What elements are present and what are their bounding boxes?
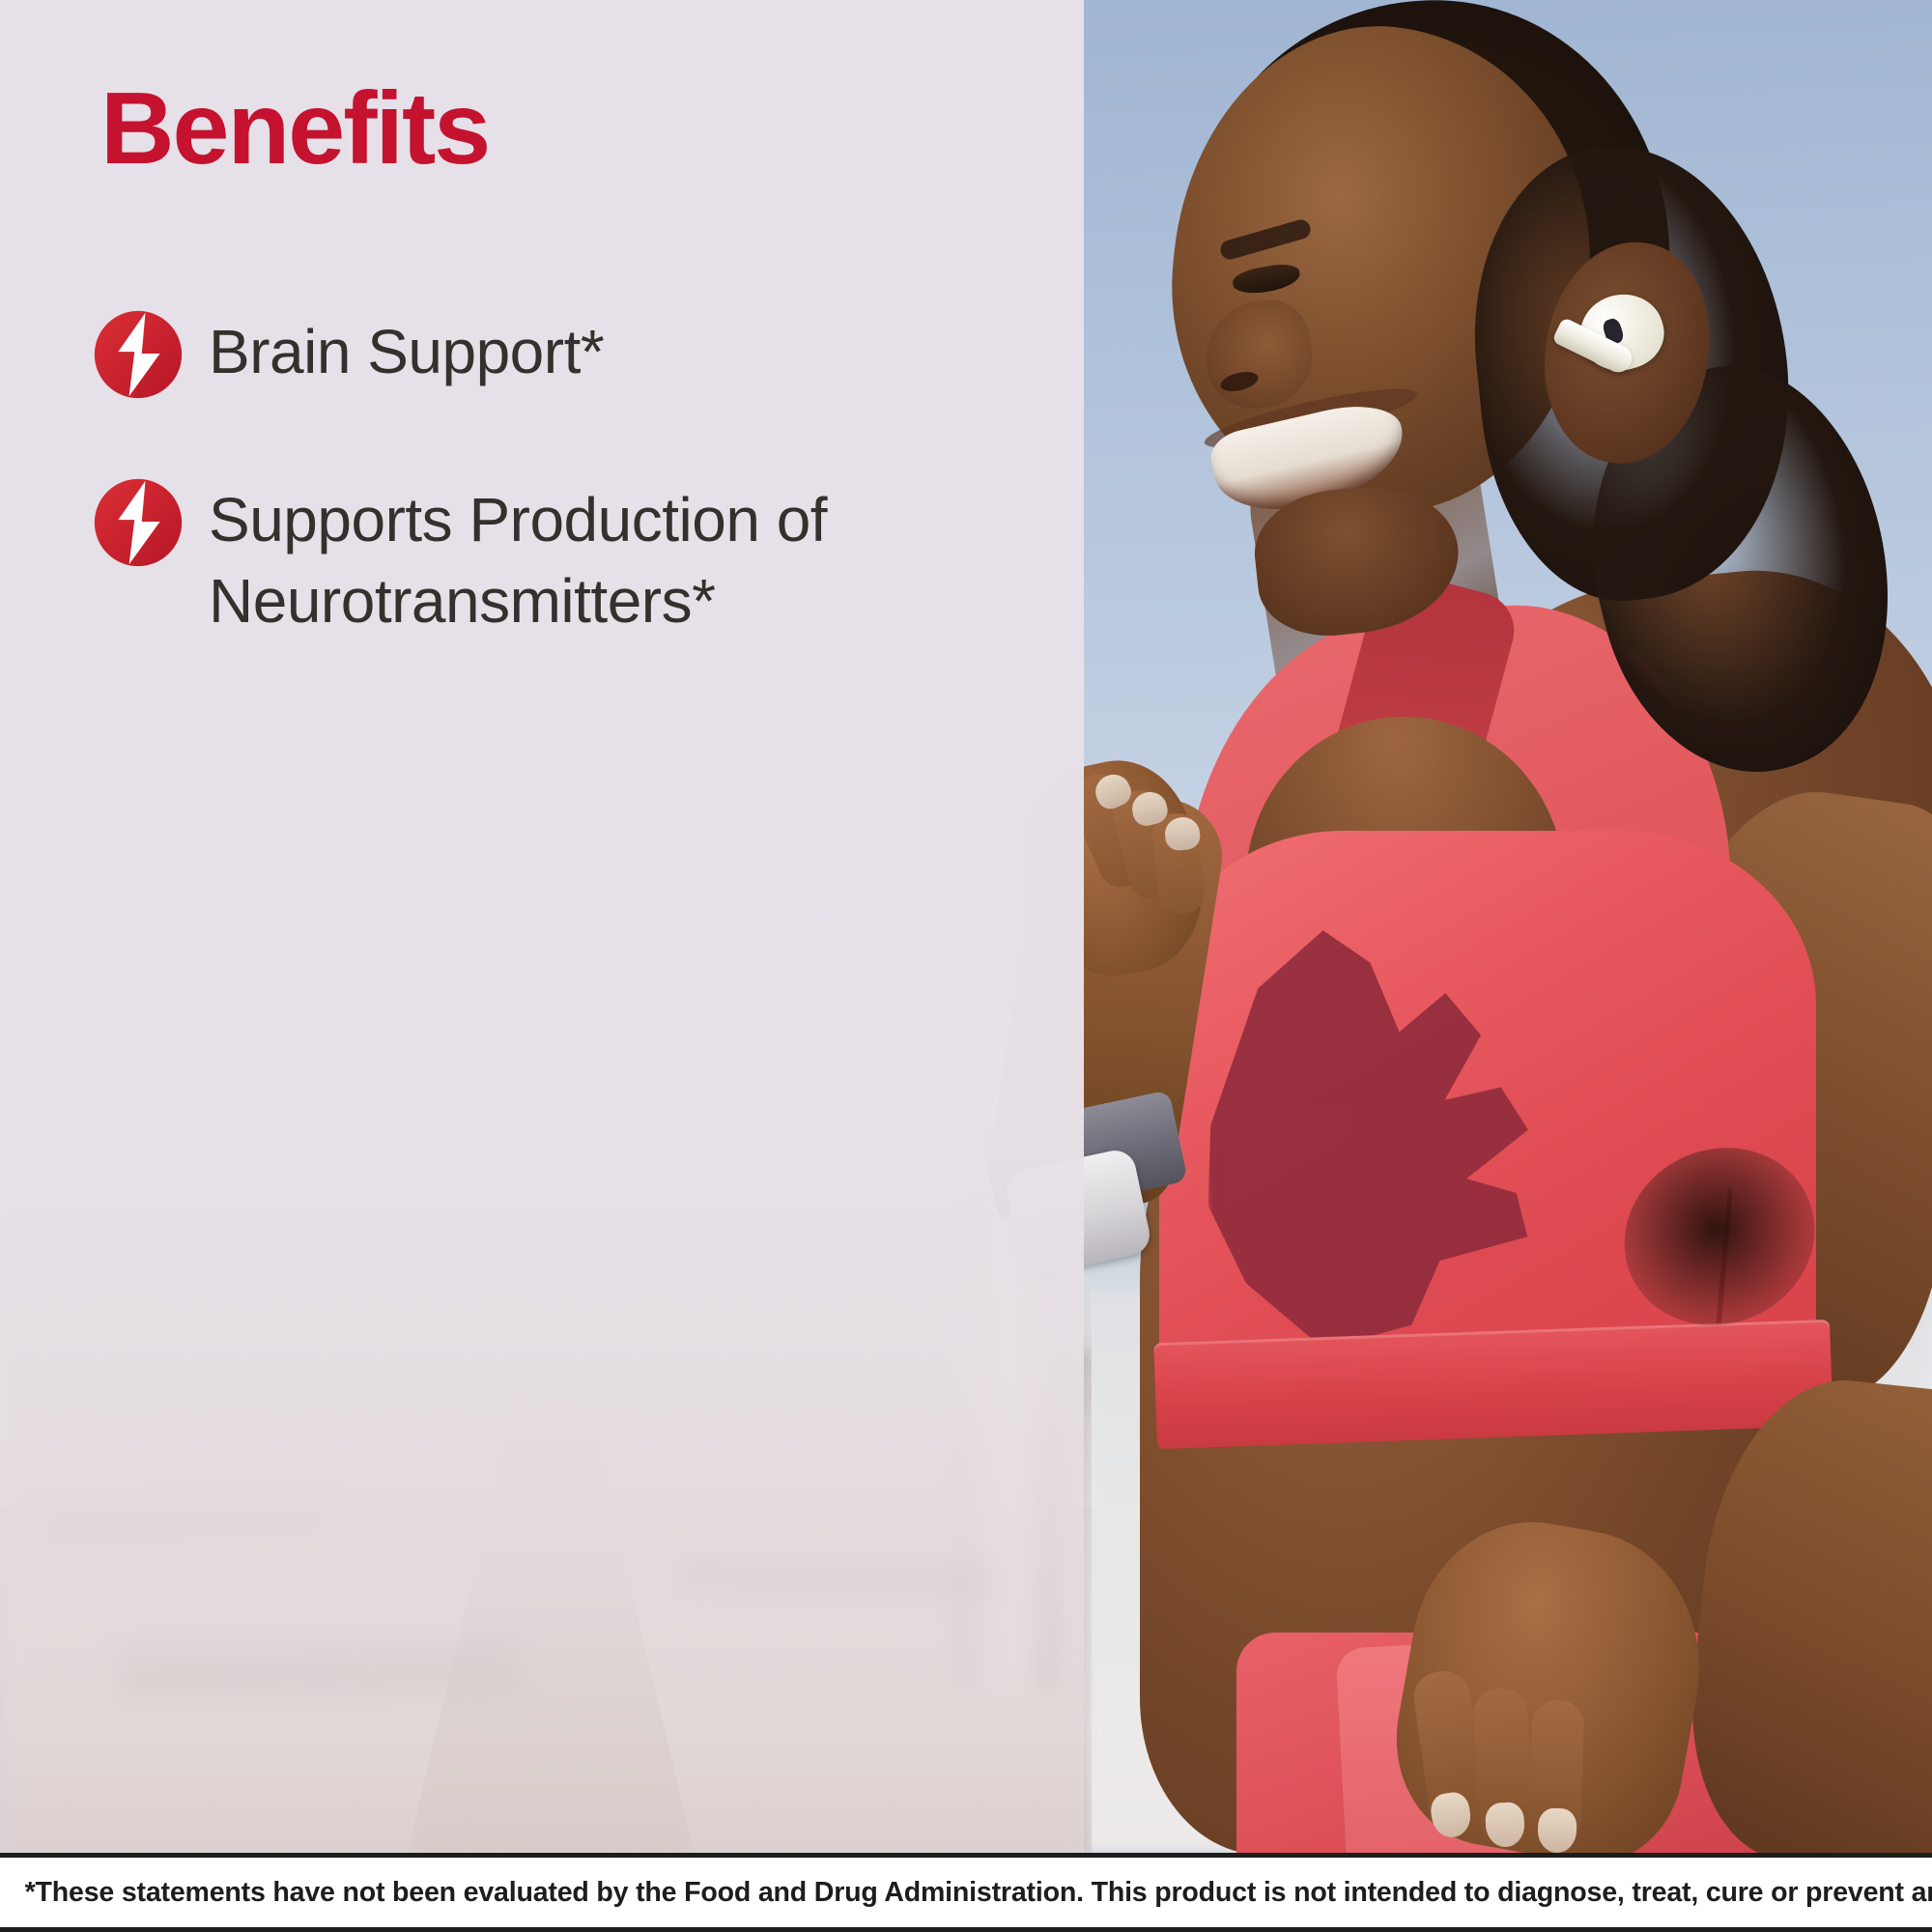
benefits-content-panel: Benefits [0, 0, 1084, 1853]
benefit-label: Brain Support* [209, 307, 604, 392]
benefit-label: Supports Production of Neurotransmitters… [209, 475, 943, 642]
list-item: Supports Production of Neurotransmitters… [93, 475, 1039, 642]
disclaimer-bar: *These statements have not been evaluate… [0, 1853, 1932, 1932]
page-title: Benefits [100, 75, 489, 183]
lightning-bolt-icon [93, 309, 184, 400]
product-benefits-panel: Benefits [0, 0, 1932, 1932]
lightning-bolt-icon [93, 477, 184, 568]
disclaimer-text: *These statements have not been evaluate… [0, 1877, 1932, 1909]
benefits-list: Brain Support* [93, 307, 1039, 718]
list-item: Brain Support* [93, 307, 1039, 400]
